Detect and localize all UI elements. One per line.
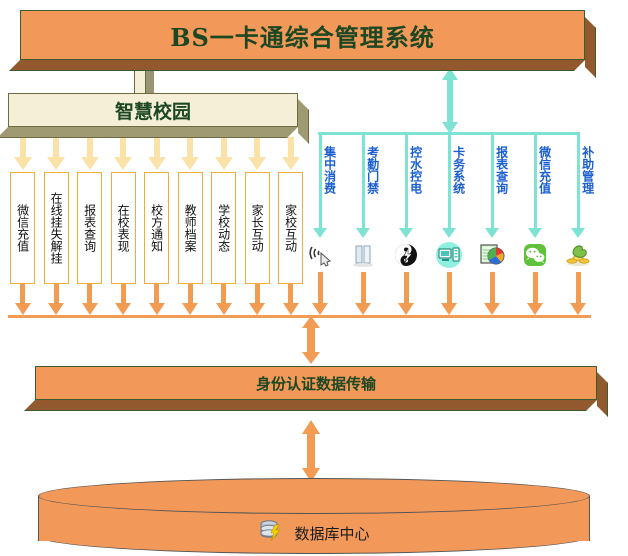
campus-arrow-stem <box>87 137 93 158</box>
campus-arrow-head <box>114 157 132 170</box>
campus-arrow-stem <box>288 137 294 158</box>
campus-module-box[interactable]: 教师档案 <box>178 172 203 284</box>
campus-arrow-stem <box>20 137 26 158</box>
system-architecture-diagram: BS一卡通综合管理系统 智慧校园 集中消费考勤门禁控水控电卡务系统报表查询微信充… <box>0 0 628 556</box>
campus-module-box[interactable]: 家长互动 <box>245 172 270 284</box>
system-module-label: 控水控电 <box>409 146 422 194</box>
system-module-arrow-head <box>528 228 542 238</box>
campus-arrow-stem <box>154 137 160 158</box>
module-bus-stem <box>154 284 159 303</box>
module-bus-arrow-head <box>149 303 165 315</box>
database-center-label-group: 数据库中心 <box>38 518 590 548</box>
campus-arrow-head <box>248 157 266 170</box>
module-bus-stem <box>54 284 59 303</box>
auth-transport-bar: 身份认证数据传输 <box>35 366 597 400</box>
system-bus-stem <box>447 272 452 303</box>
module-bus-stem <box>221 284 226 303</box>
module-bus-arrow-head <box>283 303 299 315</box>
campus-bar-shadow-bottom <box>0 127 298 138</box>
module-bus-stem <box>20 284 25 303</box>
system-bus-arrow-head <box>484 303 500 315</box>
database-center-label: 数据库中心 <box>294 523 369 544</box>
system-module-label: 补助管理 <box>581 146 594 194</box>
module-bus-stem <box>188 284 193 303</box>
campus-module-label: 学校动态 <box>217 204 229 252</box>
title-to-system-bus-arrow <box>442 68 458 134</box>
campus-arrow-stem <box>187 137 193 158</box>
module-bus-arrow-head <box>15 303 31 315</box>
computer-terminal-icon[interactable] <box>435 241 463 269</box>
campus-arrow-head <box>148 157 166 170</box>
system-module-arrow-head <box>356 228 370 238</box>
auth-bar-shadow-bottom <box>24 400 597 411</box>
system-module-line <box>319 133 322 228</box>
system-module-line <box>405 133 408 228</box>
campus-module-label: 微信充值 <box>16 204 28 252</box>
system-module-label: 报表查询 <box>495 146 508 194</box>
campus-module-label: 家长互动 <box>251 204 263 252</box>
campus-platform-label: 智慧校园 <box>115 97 191 124</box>
campus-arrow-stem <box>221 137 227 158</box>
database-cylinder: 数据库中心 <box>38 478 590 552</box>
system-module-arrow-head <box>313 228 327 238</box>
wechat-icon[interactable] <box>521 241 549 269</box>
campus-module-box[interactable]: 学校动态 <box>211 172 236 284</box>
campus-arrow-head <box>215 157 233 170</box>
system-bus-arrow-head <box>355 303 371 315</box>
module-bus-arrow-head <box>82 303 98 315</box>
campus-module-box[interactable]: 在线挂失解挂 <box>44 172 69 284</box>
module-bus-arrow-head <box>115 303 131 315</box>
bus-to-auth-arrow <box>302 316 320 364</box>
module-bus-stem <box>255 284 260 303</box>
page-title: BS一卡通综合管理系统 <box>170 18 435 53</box>
module-bus-arrow-head <box>216 303 232 315</box>
yinyang-power-icon[interactable] <box>392 241 420 269</box>
system-bus-stem <box>318 272 323 303</box>
campus-module-box[interactable]: 家校互动 <box>278 172 303 284</box>
campus-platform-bar: 智慧校园 <box>8 93 298 127</box>
wireless-signal-icon[interactable] <box>306 241 334 269</box>
system-module-line <box>362 133 365 228</box>
campus-module-label: 校方通知 <box>150 204 162 252</box>
campus-module-label: 在校表现 <box>117 204 129 252</box>
module-bus-stem <box>288 284 293 303</box>
campus-arrow-head <box>47 157 65 170</box>
module-bus-arrow-head <box>182 303 198 315</box>
system-module-arrow-head <box>399 228 413 238</box>
system-module-label: 卡务系统 <box>452 146 465 194</box>
database-icon <box>258 518 284 548</box>
campus-arrow-stem <box>53 137 59 158</box>
system-module-line <box>577 133 580 228</box>
system-bus-stem <box>533 272 538 303</box>
pie-chart-report-icon[interactable] <box>478 241 506 269</box>
campus-arrow-head <box>14 157 32 170</box>
title-bar-shadow-bottom <box>9 60 585 71</box>
module-bus-arrow-head <box>48 303 64 315</box>
system-bus-arrow-head <box>527 303 543 315</box>
system-bus-stem <box>361 272 366 303</box>
system-module-label: 微信充值 <box>538 146 551 194</box>
campus-arrow-head <box>81 157 99 170</box>
system-bus-stem <box>490 272 495 303</box>
data-bus-line <box>8 315 591 318</box>
campus-module-box[interactable]: 报表查询 <box>77 172 102 284</box>
campus-module-box[interactable]: 微信充值 <box>10 172 35 284</box>
campus-module-box[interactable]: 校方通知 <box>144 172 169 284</box>
auth-bar-shadow-side <box>597 372 608 417</box>
system-module-arrow-head <box>571 228 585 238</box>
campus-module-label: 报表查询 <box>83 204 95 252</box>
title-bar-shadow-side <box>585 17 596 78</box>
system-bus-arrow-head <box>441 303 457 315</box>
database-cylinder-top <box>38 478 590 514</box>
system-bus-arrow-head <box>398 303 414 315</box>
module-bus-stem <box>121 284 126 303</box>
module-bus-arrow-head <box>249 303 265 315</box>
campus-module-label: 在线挂失解挂 <box>50 192 62 264</box>
auth-to-database-arrow <box>302 420 320 482</box>
campus-module-box[interactable]: 在校表现 <box>111 172 136 284</box>
campus-arrow-head <box>181 157 199 170</box>
door-gate-icon[interactable] <box>349 241 377 269</box>
campus-arrow-stem <box>120 137 126 158</box>
system-bus-arrow-head <box>570 303 586 315</box>
system-title-bar: BS一卡通综合管理系统 <box>20 10 585 60</box>
system-module-line <box>534 133 537 228</box>
campus-arrow-stem <box>254 137 260 158</box>
system-bus-stem <box>404 272 409 303</box>
campus-arrow-head <box>282 157 300 170</box>
system-module-arrow-head <box>442 228 456 238</box>
campus-module-label: 家校互动 <box>284 204 296 252</box>
system-module-line <box>448 133 451 228</box>
money-coins-icon[interactable] <box>564 241 592 269</box>
module-bus-stem <box>87 284 92 303</box>
campus-bar-shadow-side <box>298 99 309 144</box>
system-bus-arrow-head <box>312 303 328 315</box>
system-module-label: 考勤门禁 <box>366 146 379 194</box>
system-module-label: 集中消费 <box>323 146 336 194</box>
auth-transport-label: 身份认证数据传输 <box>256 373 376 394</box>
campus-module-label: 教师档案 <box>184 204 196 252</box>
system-module-line <box>491 133 494 228</box>
system-module-arrow-head <box>485 228 499 238</box>
system-bus-stem <box>576 272 581 303</box>
